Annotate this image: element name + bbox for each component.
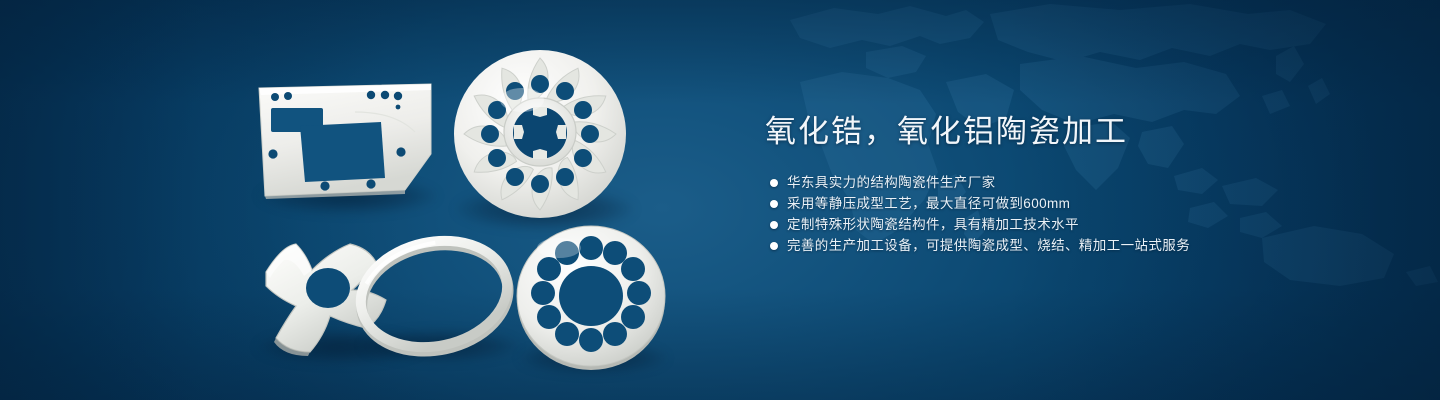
bullet-dot-icon [770,200,778,208]
bullet-dot-icon [770,242,778,250]
bullet-dot-icon [770,221,778,229]
ceramic-ring-image [352,228,516,356]
ceramic-holed-disc-image [515,222,667,370]
bullet-dot-icon [770,179,778,187]
page-title: 氧化锆，氧化铝陶瓷加工 [765,112,1325,152]
list-item-label: 华东具实力的结构陶瓷件生产厂家 [787,174,996,192]
ceramic-impeller-image [452,48,628,220]
ceramic-plate-image [255,82,435,202]
list-item: 完善的生产加工设备，可提供陶瓷成型、烧结、精加工一站式服务 [765,237,1325,255]
banner-copy: 氧化锆，氧化铝陶瓷加工 华东具实力的结构陶瓷件生产厂家 采用等静压成型工艺，最大… [765,112,1325,258]
list-item-label: 采用等静压成型工艺，最大直径可做到600mm [787,195,1070,213]
list-item: 定制特殊形状陶瓷结构件，具有精加工技术水平 [765,216,1325,234]
list-item: 采用等静压成型工艺，最大直径可做到600mm [765,195,1325,213]
list-item: 华东具实力的结构陶瓷件生产厂家 [765,174,1325,192]
promo-banner: 氧化锆，氧化铝陶瓷加工 华东具实力的结构陶瓷件生产厂家 采用等静压成型工艺，最大… [0,0,1440,400]
list-item-label: 定制特殊形状陶瓷结构件，具有精加工技术水平 [787,216,1079,234]
list-item-label: 完善的生产加工设备，可提供陶瓷成型、烧结、精加工一站式服务 [787,237,1190,255]
feature-list: 华东具实力的结构陶瓷件生产厂家 采用等静压成型工艺，最大直径可做到600mm 定… [765,174,1325,255]
